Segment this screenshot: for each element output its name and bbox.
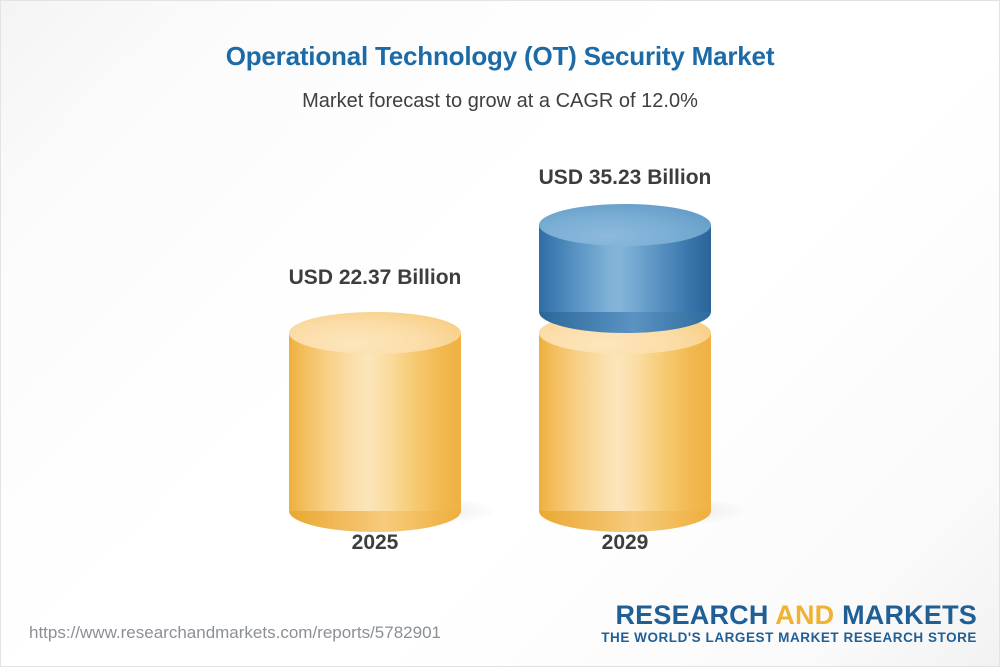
logo-word-and: AND [775,600,834,630]
chart-canvas: Operational Technology (OT) Security Mar… [0,0,1000,667]
plot-area: USD 22.37 Billion 2025 USD 35.23 Billion [1,1,1000,667]
cylinder-body [539,333,711,511]
source-url[interactable]: https://www.researchandmarkets.com/repor… [29,623,441,643]
brand-logo[interactable]: RESEARCH AND MARKETS THE WORLD'S LARGEST… [601,601,977,647]
bar-segment-base-2025[interactable] [289,312,461,511]
logo-word-research: RESEARCH [615,600,775,630]
cylinder-body [289,333,461,511]
bar-category-label-2029: 2029 [539,531,711,555]
bar-value-label-2025: USD 22.37 Billion [225,266,525,290]
bar-value-label-2029: USD 35.23 Billion [475,166,775,190]
logo-tagline: THE WORLD'S LARGEST MARKET RESEARCH STOR… [601,629,977,647]
bar-segment-base-2029[interactable] [539,312,711,511]
logo-wordmark: RESEARCH AND MARKETS [601,601,977,629]
logo-word-markets: MARKETS [834,600,977,630]
cylinder-top-cap [289,312,461,354]
bar-category-label-2025: 2025 [289,531,461,555]
cylinder-top-cap [539,204,711,246]
bar-segment-growth-2029[interactable] [539,204,711,312]
